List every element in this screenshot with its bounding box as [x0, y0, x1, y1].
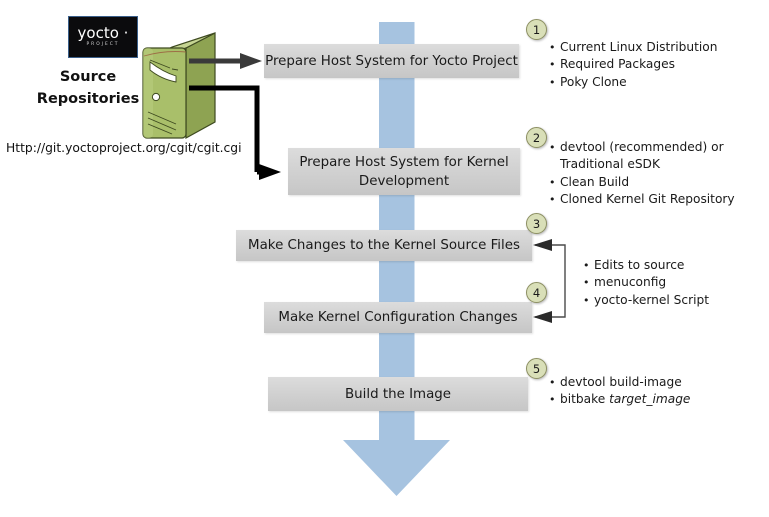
bullet-item: yocto-kernel Script [583, 292, 709, 309]
step-box-4[interactable]: Make Kernel Configuration Changes [264, 302, 532, 333]
bullet-item: devtool (recommended) or [549, 139, 735, 156]
step-box-1[interactable]: Prepare Host System for Yocto Project [264, 44, 519, 78]
step-number-2: 2 [526, 127, 547, 148]
step-box-2[interactable]: Prepare Host System for Kernel Developme… [288, 148, 520, 195]
logo-subtext: PROJECT [87, 43, 120, 47]
step-number-3: 3 [526, 213, 547, 234]
step-number-1: 1 [526, 19, 547, 40]
bullet-item-continuation: Traditional eSDK [549, 156, 735, 173]
step-number-4: 4 [526, 282, 547, 303]
bullet-item: devtool build-image [549, 374, 690, 391]
step-box-3[interactable]: Make Changes to the Kernel Source Files [236, 230, 532, 261]
source-repository-url: Http://git.yoctoproject.org/cgit/cgit.cg… [6, 141, 242, 155]
step-5-bullets: devtool build-image bitbake target_image [549, 374, 690, 409]
yocto-project-logo: yocto · PROJECT [68, 16, 138, 58]
bullet-item-bitbake: bitbake target_image [549, 391, 690, 408]
source-label-line1: Source [28, 66, 148, 88]
step-3-4-shared-bullets: Edits to source menuconfig yocto-kernel … [583, 257, 709, 309]
source-label-line2: Repositories [28, 88, 148, 110]
bullet-item: Cloned Kernel Git Repository [549, 191, 735, 208]
bullet-item: Edits to source [583, 257, 709, 274]
step-2-bullets: devtool (recommended) or Traditional eSD… [549, 139, 735, 208]
bitbake-command: bitbake [560, 392, 609, 406]
source-repositories-label: Source Repositories [28, 66, 148, 110]
step-1-bullets: Current Linux Distribution Required Pack… [549, 39, 717, 91]
bullet-item: Clean Build [549, 174, 735, 191]
connector-bracket-step3-step4 [533, 239, 565, 323]
step-box-5[interactable]: Build the Image [268, 377, 528, 411]
bullet-item: Current Linux Distribution [549, 39, 717, 56]
bullet-item: Poky Clone [549, 74, 717, 91]
bullet-item: Required Packages [549, 56, 717, 73]
bullet-item: menuconfig [583, 274, 709, 291]
step-number-5: 5 [526, 358, 547, 379]
logo-wordmark: yocto · [78, 26, 129, 41]
bitbake-target-param: target_image [609, 392, 690, 406]
